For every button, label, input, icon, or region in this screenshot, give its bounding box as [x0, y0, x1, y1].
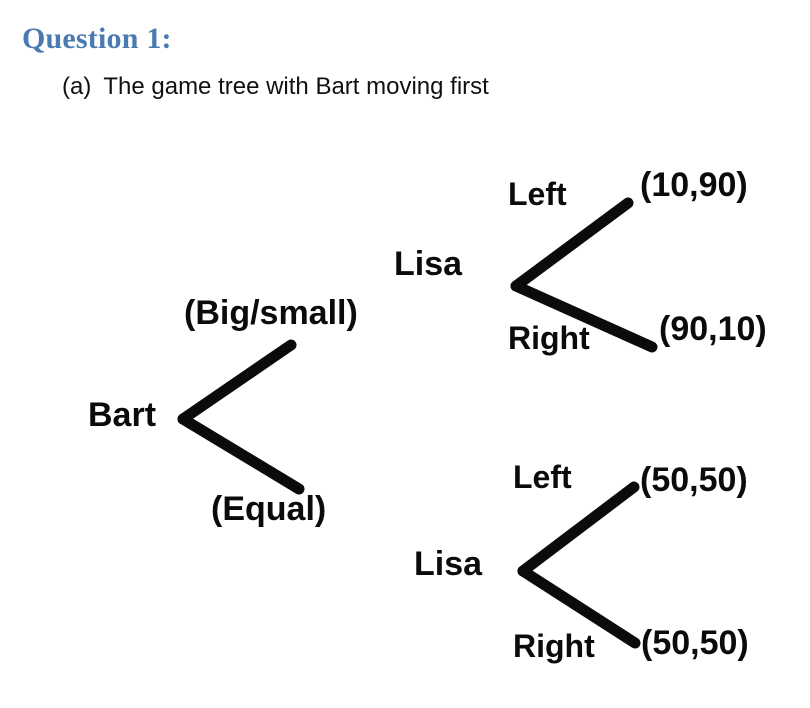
node-label-lisa-bottom: Lisa: [414, 547, 482, 581]
game-tree-edges: [0, 0, 810, 708]
edge-label-right-bottom: Right: [513, 630, 595, 662]
edge-bart-equal: [183, 419, 299, 489]
edge-lisa-top-left: [516, 203, 628, 286]
payoff-label-top-right: (90,10): [659, 312, 767, 346]
node-label-bart: Bart: [88, 398, 156, 432]
payoff-label-bottom-right: (50,50): [641, 626, 749, 660]
diagram-page: Question 1: (a)The game tree with Bart m…: [0, 0, 810, 708]
edge-label-equal: (Equal): [211, 492, 326, 526]
edge-label-left-bottom: Left: [513, 461, 572, 493]
payoff-label-bottom-left: (50,50): [640, 463, 748, 497]
edge-lisa-bottom-left: [523, 487, 634, 571]
edge-label-right-top: Right: [508, 322, 590, 354]
edge-label-big-small: (Big/small): [184, 296, 358, 330]
edge-bart-bigsmall: [183, 345, 291, 419]
edge-label-left-top: Left: [508, 178, 567, 210]
node-label-lisa-top: Lisa: [394, 247, 462, 281]
payoff-label-top-left: (10,90): [640, 168, 748, 202]
